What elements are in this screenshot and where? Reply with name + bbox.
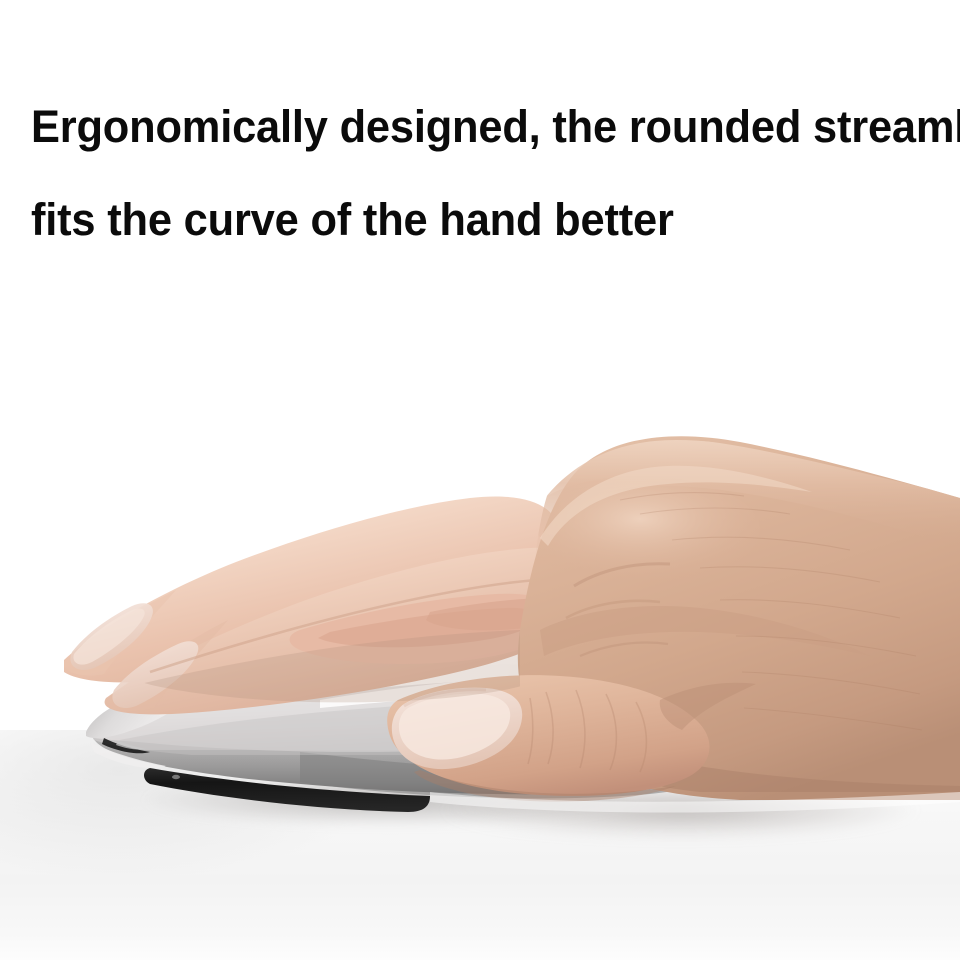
hand-graphic <box>0 300 960 960</box>
product-photo <box>0 300 960 960</box>
headline-block: Ergonomically designed, the rounded stre… <box>31 80 951 266</box>
headline-line-2: fits the curve of the hand better <box>31 173 919 266</box>
headline-line-1: Ergonomically designed, the rounded stre… <box>31 80 919 173</box>
product-banner: Ergonomically designed, the rounded stre… <box>0 0 960 960</box>
